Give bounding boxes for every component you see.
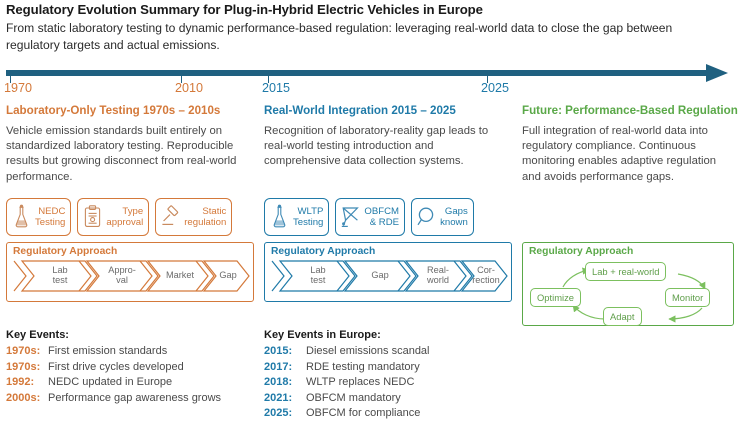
badge-static-regulation[interactable]: Static regulation xyxy=(155,198,232,236)
badge-wltp-testing-label: WLTP Testing xyxy=(293,206,323,229)
chevron-label-real-world: Real- world xyxy=(415,265,461,286)
key-event-year: 2017: xyxy=(264,360,306,376)
clipboard-icon xyxy=(82,204,103,230)
column-heading-real-world: Real-World Integration 2015 – 2025 xyxy=(264,104,512,117)
chevron-flow-laboratory: Lab test Appro- val Market Gap xyxy=(13,259,248,297)
badge-line1: Static xyxy=(184,206,226,218)
regulatory-approach-panel-real-world: Regulatory Approach Lab test Gap Real- w… xyxy=(264,242,512,302)
key-event-text: OBFCM for compliance xyxy=(306,406,420,422)
regulatory-approach-panel-future: Regulatory Approach Lab + real-world Mon… xyxy=(522,242,734,326)
key-event-row: 2021: OBFCM mandatory xyxy=(264,391,430,407)
badge-line1: OBFCM xyxy=(364,206,399,218)
chevron-line1: Lab xyxy=(295,265,341,275)
regulatory-approach-title: Regulatory Approach xyxy=(13,246,248,257)
key-events-title: Key Events in Europe: xyxy=(264,329,430,341)
cycle-node-lab-real-world[interactable]: Lab + real-world xyxy=(585,262,666,281)
timeline: 1970 2010 2015 2025 xyxy=(0,62,738,98)
badge-nedc-testing[interactable]: NEDC Testing xyxy=(6,198,71,236)
regulatory-approach-panel-laboratory: Regulatory Approach Lab test Appro- val … xyxy=(6,242,254,302)
chevron-label-market: Market xyxy=(157,270,203,280)
key-event-text: First emission standards xyxy=(48,344,167,360)
chevron-label-lab-test: Lab test xyxy=(37,265,83,286)
chevron-line1: Gap xyxy=(357,270,403,280)
chevron-line2: val xyxy=(99,275,145,285)
column-body-real-world: Recognition of laboratory-reality gap le… xyxy=(264,124,512,170)
chevron-line2: world xyxy=(415,275,461,285)
cycle-node-monitor[interactable]: Monitor xyxy=(665,288,710,307)
key-event-year: 2021: xyxy=(264,391,306,407)
timeline-label-1970: 1970 xyxy=(4,81,32,95)
key-events-laboratory: Key Events: 1970s: First emission standa… xyxy=(6,329,221,406)
key-event-row: 2015: Diesel emissions scandal xyxy=(264,344,430,360)
key-event-row: 2025: OBFCM for compliance xyxy=(264,406,430,422)
key-events-europe: Key Events in Europe: 2015: Diesel emiss… xyxy=(264,329,430,422)
timeline-arrow-icon xyxy=(706,64,728,82)
page-subtitle: From static laboratory testing to dynami… xyxy=(6,20,722,54)
chevron-line1: Appro- xyxy=(99,265,145,275)
badge-line1: NEDC xyxy=(35,206,65,218)
key-event-year: 2000s: xyxy=(6,391,48,407)
chevron-label-approval: Appro- val xyxy=(99,265,145,286)
chevron-line2: rection xyxy=(463,275,509,285)
chevron-line2: test xyxy=(295,275,341,285)
column-future-performance-based: Future: Performance-Based Regulation Ful… xyxy=(522,104,734,185)
key-event-row: 1970s: First drive cycles developed xyxy=(6,360,221,376)
column-laboratory-only: Laboratory-Only Testing 1970s – 2010s Ve… xyxy=(6,104,254,185)
key-event-year: 1992: xyxy=(6,375,48,391)
timeline-bar xyxy=(6,70,708,76)
chevron-flow-real-world: Lab test Gap Real- world Cor- rection xyxy=(271,259,506,297)
chevron-line1: Market xyxy=(157,270,203,280)
timeline-label-2025: 2025 xyxy=(481,81,509,95)
cycle-node-adapt[interactable]: Adapt xyxy=(603,307,642,326)
key-event-row: 1992: NEDC updated in Europe xyxy=(6,375,221,391)
badge-type-approval[interactable]: Type approval xyxy=(77,198,149,236)
column-body-laboratory-only: Vehicle emission standards built entirel… xyxy=(6,124,254,185)
key-event-text: Diesel emissions scandal xyxy=(306,344,430,360)
regulatory-approach-title: Regulatory Approach xyxy=(271,246,506,257)
column-heading-future: Future: Performance-Based Regulation xyxy=(522,104,734,117)
gavel-icon xyxy=(160,204,181,230)
flask-icon xyxy=(11,204,32,230)
key-event-row: 2017: RDE testing mandatory xyxy=(264,360,430,376)
regulatory-approach-title: Regulatory Approach xyxy=(529,246,728,257)
regulatory-cycle-diagram: Lab + real-world Monitor Adapt Optimize xyxy=(529,259,729,325)
badge-line2: Testing xyxy=(35,217,65,229)
key-event-text: NEDC updated in Europe xyxy=(48,375,172,391)
column-heading-laboratory-only: Laboratory-Only Testing 1970s – 2010s xyxy=(6,104,254,117)
cycle-node-optimize[interactable]: Optimize xyxy=(530,288,581,307)
badge-row-laboratory: NEDC Testing Type approval xyxy=(6,198,232,236)
key-event-year: 1970s: xyxy=(6,344,48,360)
key-event-text: Performance gap awareness grows xyxy=(48,391,221,407)
column-real-world-integration: Real-World Integration 2015 – 2025 Recog… xyxy=(264,104,512,170)
badge-line1: Type xyxy=(106,206,143,218)
chevron-line1: Real- xyxy=(415,265,461,275)
badge-nedc-testing-label: NEDC Testing xyxy=(35,206,65,229)
key-event-year: 2025: xyxy=(264,406,306,422)
key-event-text: WLTP replaces NEDC xyxy=(306,375,414,391)
badge-obfcm-rde-label: OBFCM & RDE xyxy=(364,206,399,229)
chevron-label-lab-test: Lab test xyxy=(295,265,341,286)
badge-gaps-known-label: Gaps known xyxy=(440,206,468,229)
key-event-row: 1970s: First emission standards xyxy=(6,344,221,360)
badge-row-real-world: WLTP Testing OBFCM & RDE Gaps xyxy=(264,198,474,236)
chevron-line1: Gap xyxy=(205,270,251,280)
badge-line2: Testing xyxy=(293,217,323,229)
badge-line2: approval xyxy=(106,217,143,229)
key-event-text: RDE testing mandatory xyxy=(306,360,420,376)
chevron-line1: Lab xyxy=(37,265,83,275)
badge-gaps-known[interactable]: Gaps known xyxy=(411,198,474,236)
badge-wltp-testing[interactable]: WLTP Testing xyxy=(264,198,329,236)
page-title: Regulatory Evolution Summary for Plug-in… xyxy=(6,2,732,17)
badge-type-approval-label: Type approval xyxy=(106,206,143,229)
key-event-text: First drive cycles developed xyxy=(48,360,184,376)
badge-static-regulation-label: Static regulation xyxy=(184,206,226,229)
key-event-year: 2018: xyxy=(264,375,306,391)
magnifier-icon xyxy=(416,204,437,230)
timeline-label-2015: 2015 xyxy=(262,81,290,95)
key-event-row: 2000s: Performance gap awareness grows xyxy=(6,391,221,407)
chevron-label-correction: Cor- rection xyxy=(463,265,509,286)
chevron-label-gap: Gap xyxy=(357,270,403,280)
key-event-row: 2018: WLTP replaces NEDC xyxy=(264,375,430,391)
badge-line1: WLTP xyxy=(293,206,323,218)
badge-obfcm-rde[interactable]: OBFCM & RDE xyxy=(335,198,405,236)
chevron-label-gap: Gap xyxy=(205,270,251,280)
column-body-future: Full integration of real-world data into… xyxy=(522,124,734,185)
key-event-text: OBFCM mandatory xyxy=(306,391,401,407)
badge-line2: & RDE xyxy=(364,217,399,229)
key-event-year: 2015: xyxy=(264,344,306,360)
chevron-line1: Cor- xyxy=(463,265,509,275)
flask-icon xyxy=(269,204,290,230)
badge-line1: Gaps xyxy=(440,206,468,218)
satellite-dish-icon xyxy=(340,204,361,230)
key-event-year: 1970s: xyxy=(6,360,48,376)
badge-line2: regulation xyxy=(184,217,226,229)
timeline-label-2010: 2010 xyxy=(175,81,203,95)
badge-line2: known xyxy=(440,217,468,229)
key-events-title: Key Events: xyxy=(6,329,221,341)
chevron-line2: test xyxy=(37,275,83,285)
